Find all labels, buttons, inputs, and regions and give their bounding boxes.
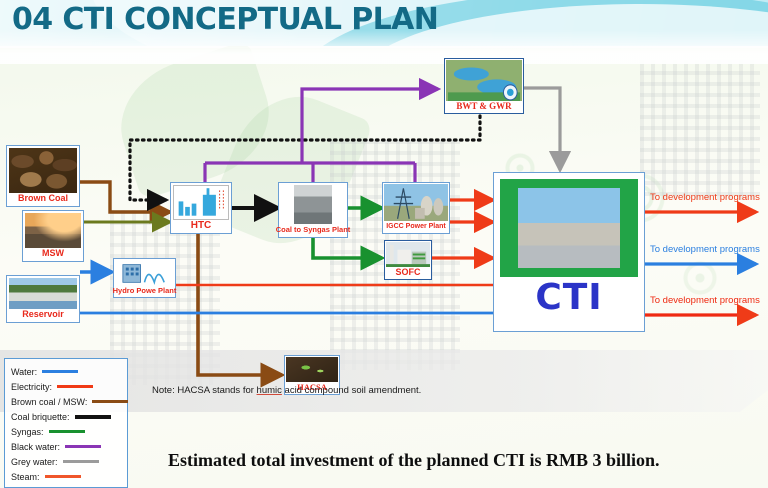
- legend-label: Electricity:: [11, 382, 52, 392]
- node-sofc[interactable]: SOFC: [384, 240, 432, 280]
- seedling-soil-photo: [286, 357, 338, 382]
- node-igcc-power-plant[interactable]: IGCC Power Plant: [382, 182, 450, 234]
- node-sofc-label: SOFC: [395, 267, 420, 278]
- wire-syngas-to-sofc: [313, 238, 382, 258]
- node-reservoir[interactable]: Reservoir: [6, 275, 80, 323]
- node-cti-label: CTI: [535, 277, 602, 319]
- note-suffix: acid compound soil amendment.: [282, 385, 421, 396]
- node-coal-to-syngas-plant-label: Coal to Syngas Plant: [276, 224, 351, 235]
- legend-swatch-coal-briquette: [75, 415, 111, 419]
- output-label-3: To development programs: [650, 295, 760, 306]
- legend-item: Coal briquette:: [11, 409, 127, 424]
- water-treatment-photo: [446, 60, 522, 101]
- hydro-plant-icon: [115, 260, 174, 285]
- note-text: Note: HACSA stands for humic acid compou…: [152, 385, 421, 396]
- legend-swatch-brown-coal-msw: [92, 400, 128, 403]
- gasifier-photo: [294, 185, 332, 224]
- legend-swatch-black-water: [65, 445, 101, 448]
- output-label-1: To development programs: [650, 192, 760, 203]
- cti-image-panel: [500, 179, 638, 277]
- legend-swatch-syngas: [49, 430, 85, 433]
- note-prefix: Note: HACSA stands for: [152, 385, 257, 396]
- wire-browncoal-to-htc: [80, 182, 170, 212]
- slide-canvas: 04 CTI CONCEPTUAL PLAN: [0, 0, 768, 488]
- node-htc[interactable]: HTC: [170, 182, 232, 234]
- legend-item: Brown coal / MSW:: [11, 394, 127, 409]
- legend-label: Steam:: [11, 472, 40, 482]
- node-bwt-gwr-label: BWT & GWR: [456, 101, 511, 112]
- output-label-2: To development programs: [650, 244, 760, 255]
- legend-item: Electricity:: [11, 379, 127, 394]
- chart-plant-icon: [173, 185, 229, 220]
- legend-item: Water:: [11, 364, 127, 379]
- legend-swatch-steam: [45, 475, 81, 478]
- legend-panel: Water: Electricity: Brown coal / MSW: Co…: [4, 358, 128, 488]
- power-pylon-photo: [384, 184, 448, 221]
- coal-pile-photo: [9, 148, 77, 193]
- node-cti[interactable]: CTI: [493, 172, 645, 332]
- node-coal-to-syngas-plant[interactable]: Coal to Syngas Plant: [278, 182, 348, 238]
- node-hydro-power-plant[interactable]: Hydro Powe Plant: [113, 258, 176, 298]
- legend-item: Black water:: [11, 439, 127, 454]
- legend-label: Brown coal / MSW:: [11, 397, 87, 407]
- node-msw-label: MSW: [42, 248, 64, 259]
- legend-swatch-electricity: [57, 385, 93, 388]
- node-brown-coal-label: Brown Coal: [18, 193, 68, 204]
- legend-label: Syngas:: [11, 427, 44, 437]
- node-brown-coal[interactable]: Brown Coal: [6, 145, 80, 207]
- note-underlined: humic: [257, 385, 282, 396]
- legend-label: Coal briquette:: [11, 412, 70, 422]
- wire-blackwater-to-bwt: [302, 89, 438, 163]
- legend-label: Grey water:: [11, 457, 58, 467]
- node-reservoir-label: Reservoir: [22, 309, 64, 320]
- node-msw[interactable]: MSW: [22, 210, 84, 262]
- dam-reservoir-photo: [9, 278, 77, 309]
- legend-swatch-grey-water: [63, 460, 99, 463]
- legend-item: Steam:: [11, 469, 127, 484]
- footer-statement: Estimated total investment of the planne…: [168, 450, 660, 471]
- legend-item: Grey water:: [11, 454, 127, 469]
- legend-label: Water:: [11, 367, 37, 377]
- industrial-complex-photo: [518, 188, 620, 268]
- node-hydro-power-plant-label: Hydro Powe Plant: [113, 285, 177, 296]
- wire-greywater-to-cti: [524, 88, 560, 170]
- node-bwt-gwr[interactable]: BWT & GWR: [444, 58, 524, 114]
- node-igcc-power-plant-label: IGCC Power Plant: [386, 221, 446, 232]
- legend-label: Black water:: [11, 442, 60, 452]
- node-htc-label: HTC: [191, 220, 212, 231]
- fuel-cell-plant-photo: [386, 242, 430, 267]
- legend-item: Syngas:: [11, 424, 127, 439]
- wire-htc-to-hacsa: [198, 234, 282, 375]
- landfill-photo: [25, 213, 81, 248]
- legend-swatch-water: [42, 370, 78, 373]
